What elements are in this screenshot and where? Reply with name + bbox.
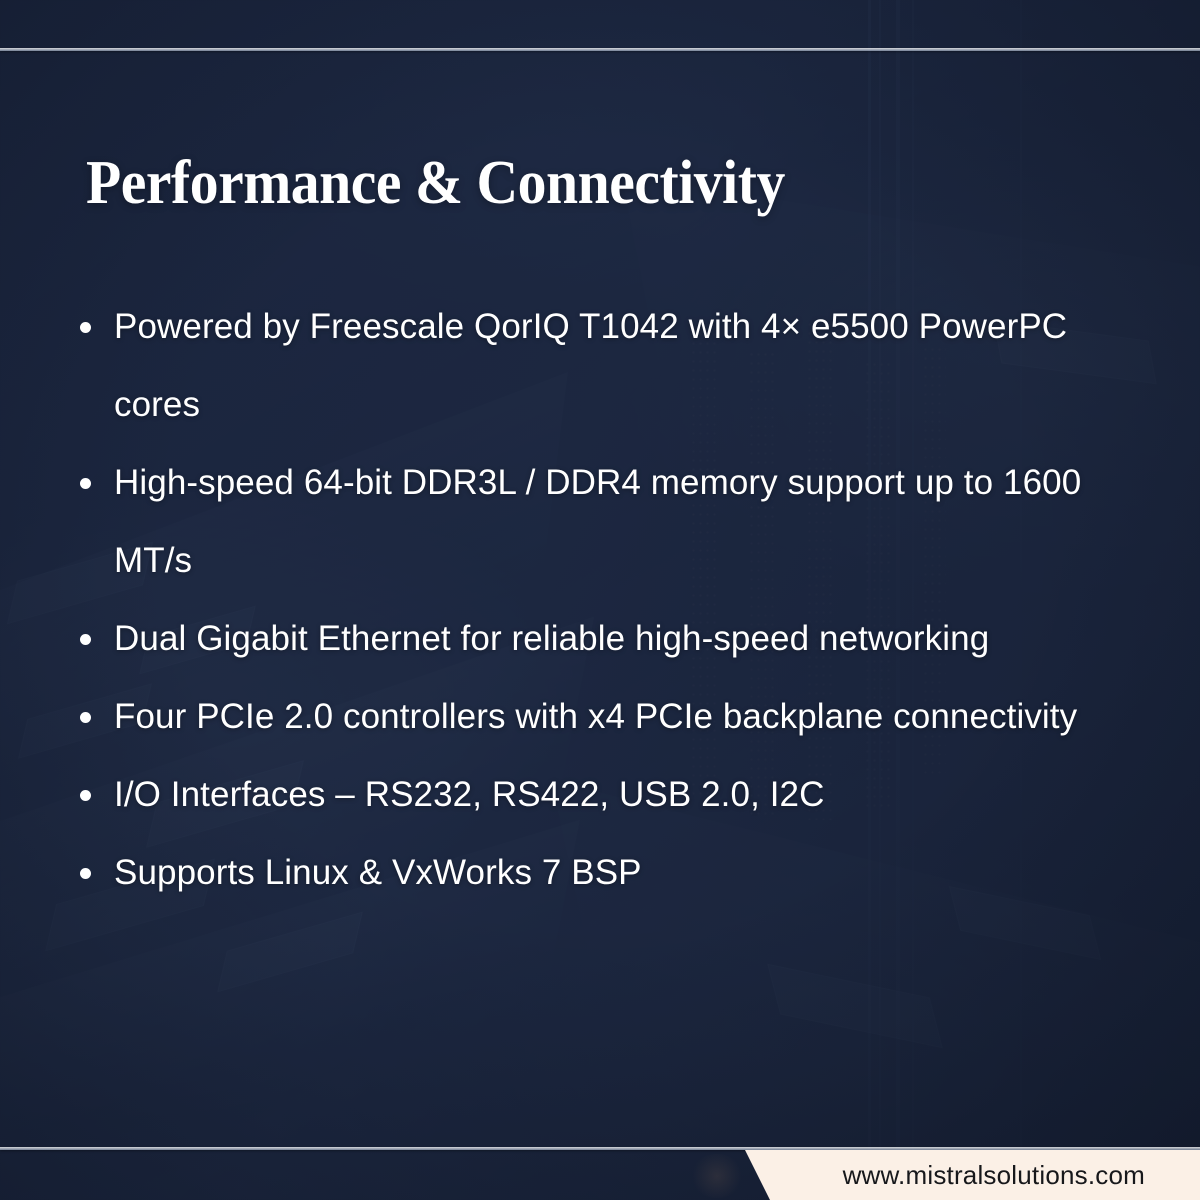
- list-item-label: I/O Interfaces – RS232, RS422, USB 2.0, …: [114, 775, 825, 814]
- list-item: Four PCIe 2.0 controllers with x4 PCIe b…: [72, 678, 1147, 756]
- list-item: Powered by Freescale QorIQ T1042 with 4×…: [72, 288, 1147, 444]
- bullet-dot-icon: [80, 712, 91, 723]
- list-item: Dual Gigabit Ethernet for reliable high-…: [72, 600, 1147, 678]
- footer-glow-decor: [690, 1154, 744, 1198]
- list-item-label: Powered by Freescale QorIQ T1042 with 4×…: [114, 307, 1067, 424]
- page-title: Performance & Connectivity: [86, 152, 1016, 214]
- bullet-dot-icon: [80, 868, 91, 879]
- list-item-label: High-speed 64-bit DDR3L / DDR4 memory su…: [114, 463, 1081, 580]
- website-url[interactable]: www.mistralsolutions.com: [843, 1150, 1145, 1200]
- list-item: High-speed 64-bit DDR3L / DDR4 memory su…: [72, 444, 1147, 600]
- bullet-dot-icon: [80, 634, 91, 645]
- list-item-label: Four PCIe 2.0 controllers with x4 PCIe b…: [114, 697, 1077, 736]
- list-item-label: Dual Gigabit Ethernet for reliable high-…: [114, 619, 989, 658]
- top-divider-rule: [0, 48, 1200, 51]
- list-item: Supports Linux & VxWorks 7 BSP: [72, 834, 1147, 912]
- list-item-label: Supports Linux & VxWorks 7 BSP: [114, 853, 642, 892]
- list-item: I/O Interfaces – RS232, RS422, USB 2.0, …: [72, 756, 1147, 834]
- bullet-dot-icon: [80, 322, 91, 333]
- footer-bar: www.mistralsolutions.com: [0, 1150, 1200, 1200]
- feature-bullet-list: Powered by Freescale QorIQ T1042 with 4×…: [72, 288, 1147, 912]
- bullet-dot-icon: [80, 478, 91, 489]
- bullet-dot-icon: [80, 790, 91, 801]
- slide-canvas: Performance & Connectivity Powered by Fr…: [0, 0, 1200, 1200]
